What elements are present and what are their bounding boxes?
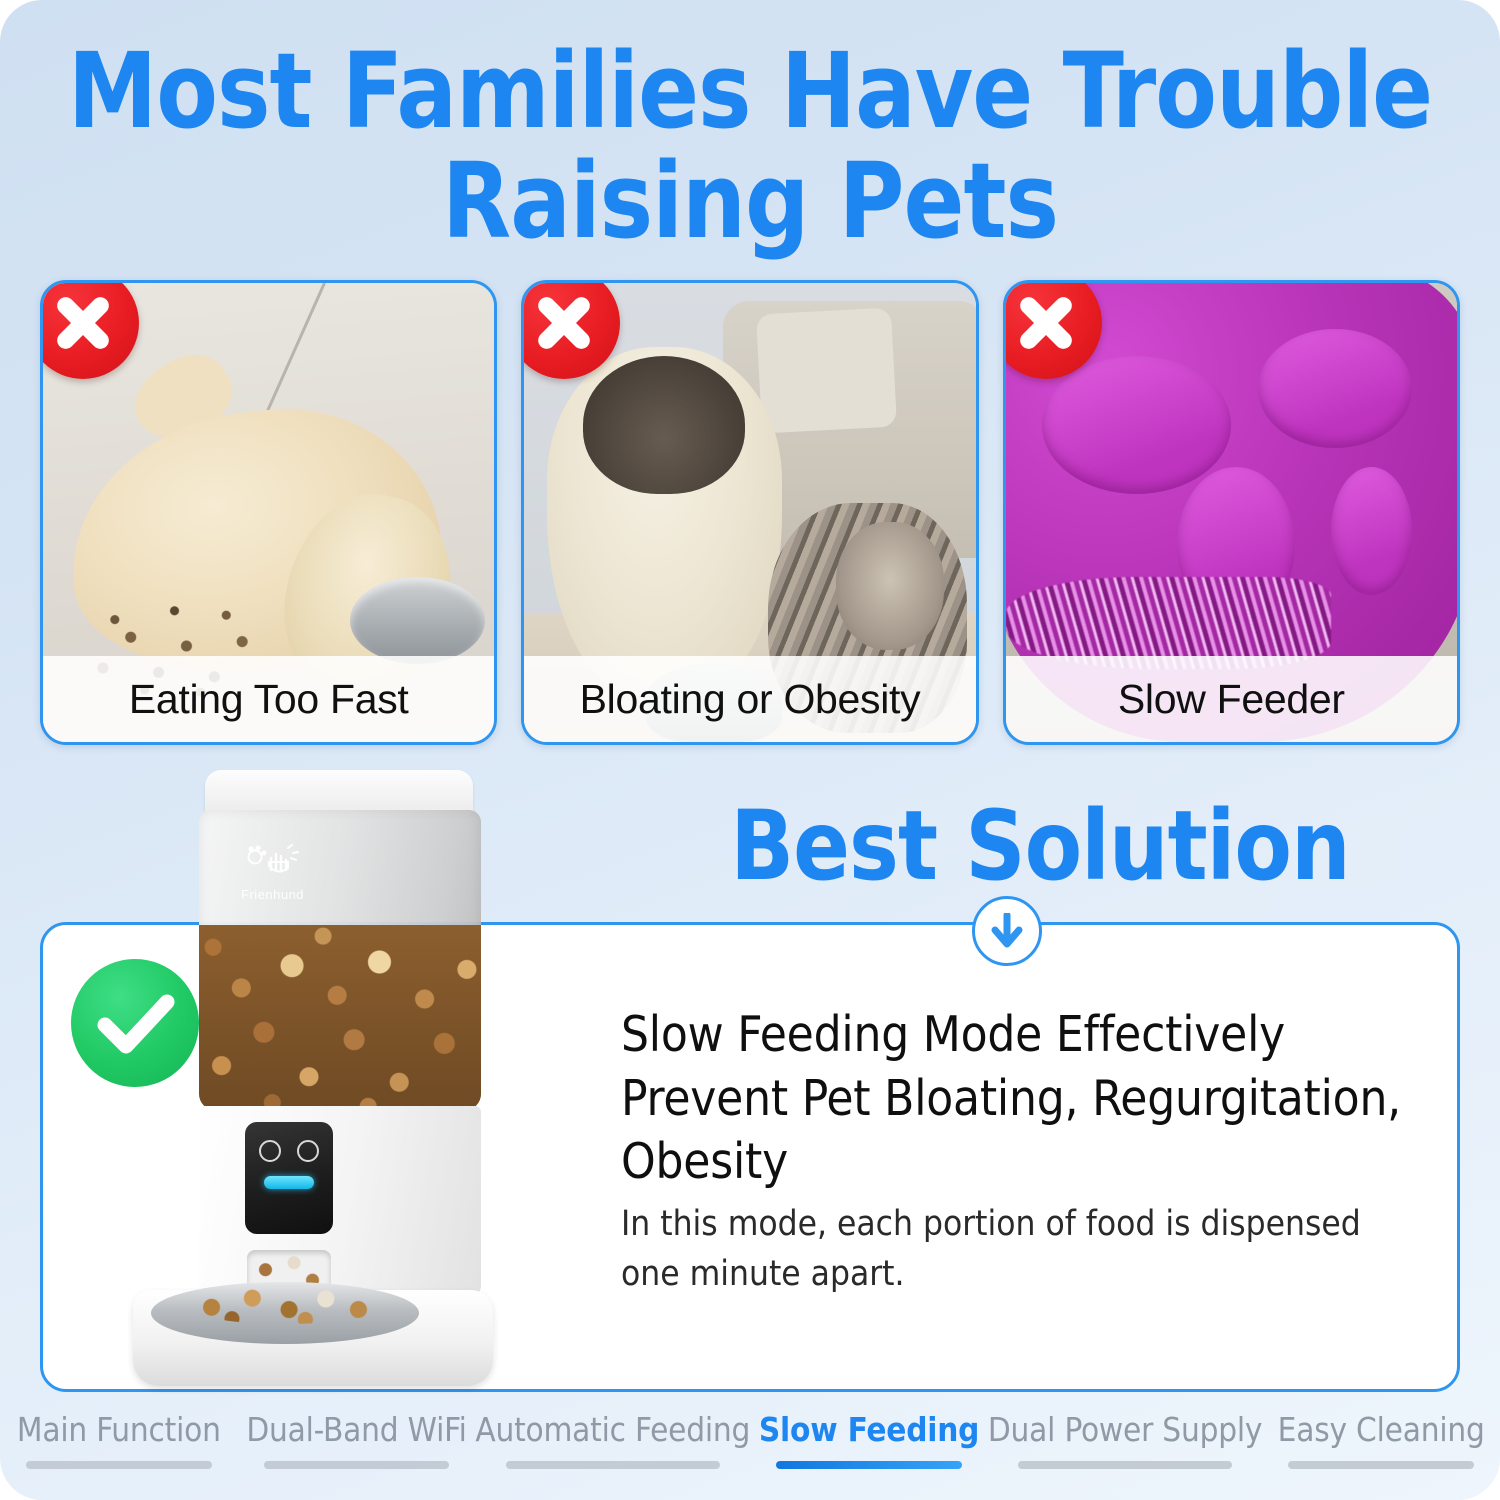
- cat-head: [836, 522, 944, 651]
- feeder-ridge: [1042, 356, 1232, 494]
- feeder-ridge: [1258, 329, 1411, 448]
- headline-line-2: Raising Pets: [30, 146, 1470, 256]
- tab-main-function[interactable]: Main Function: [0, 1396, 238, 1469]
- green-check-icon: [71, 959, 199, 1087]
- kibble-in-bowl: [183, 1286, 387, 1324]
- brand-logo: Frienhund: [241, 844, 304, 902]
- feature-tab-bar: Main Function Dual-Band WiFi Automatic F…: [0, 1396, 1500, 1500]
- tab-underline: [26, 1461, 211, 1469]
- problem-card: Slow Feeder: [1003, 280, 1460, 745]
- solution-title: Best Solution: [633, 798, 1448, 894]
- brand-name: Frienhund: [241, 887, 304, 902]
- stainless-bowl: [151, 1282, 419, 1344]
- tab-underline: [264, 1461, 449, 1469]
- solution-heading: Slow Feeding Mode Effectively Prevent Pe…: [621, 1003, 1421, 1194]
- tab-label: Dual-Band WiFi: [246, 1410, 466, 1449]
- solution-subtext: In this mode, each portion of food is di…: [621, 1200, 1421, 1299]
- feeder-ridge: [1331, 467, 1412, 596]
- infographic-page: Most Families Have Trouble Raising Pets …: [0, 0, 1500, 1500]
- tab-label: Automatic Feeding: [475, 1410, 750, 1449]
- problem-caption: Slow Feeder: [1006, 656, 1457, 742]
- kibble-in-hopper: [199, 925, 481, 1110]
- tab-underline: [776, 1461, 961, 1469]
- tab-underline: [1288, 1461, 1473, 1469]
- tab-automatic-feeding[interactable]: Automatic Feeding: [475, 1396, 750, 1469]
- solution-card: Frienhund Slow Feeding Mode Effectively …: [40, 922, 1460, 1392]
- tab-dual-band-wifi[interactable]: Dual-Band WiFi: [238, 1396, 476, 1469]
- pug-face: [583, 356, 745, 494]
- tab-dual-power-supply[interactable]: Dual Power Supply: [988, 1396, 1262, 1469]
- status-led: [264, 1176, 314, 1189]
- tab-easy-cleaning[interactable]: Easy Cleaning: [1262, 1396, 1500, 1469]
- problem-card: Bloating or Obesity: [521, 280, 978, 745]
- tab-label: Dual Power Supply: [988, 1410, 1262, 1449]
- paw-and-hand-icon: [244, 844, 302, 884]
- problem-caption: Eating Too Fast: [43, 656, 494, 742]
- cushion: [756, 307, 897, 433]
- tab-slow-feeding[interactable]: Slow Feeding: [750, 1396, 988, 1469]
- power-button[interactable]: [259, 1140, 281, 1162]
- arrow-down-icon: [972, 896, 1042, 966]
- problem-caption: Bloating or Obesity: [524, 656, 975, 742]
- page-title: Most Families Have Trouble Raising Pets: [30, 36, 1470, 256]
- tab-label: Main Function: [17, 1410, 221, 1449]
- feed-button[interactable]: [297, 1140, 319, 1162]
- tab-label: Slow Feeding: [759, 1410, 979, 1449]
- chewed-damage: [1006, 577, 1331, 669]
- tab-underline: [506, 1461, 720, 1469]
- problem-card-row: Eating Too Fast Bloating or Obesity: [40, 280, 1460, 745]
- food-bowl: [350, 577, 485, 664]
- control-panel: [245, 1122, 333, 1234]
- headline-line-1: Most Families Have Trouble: [30, 36, 1470, 146]
- feeder-body: [199, 1106, 481, 1296]
- food-hopper: Frienhund: [199, 810, 481, 1110]
- tab-label: Easy Cleaning: [1278, 1410, 1485, 1449]
- tab-underline: [1018, 1461, 1232, 1469]
- problem-card: Eating Too Fast: [40, 280, 497, 745]
